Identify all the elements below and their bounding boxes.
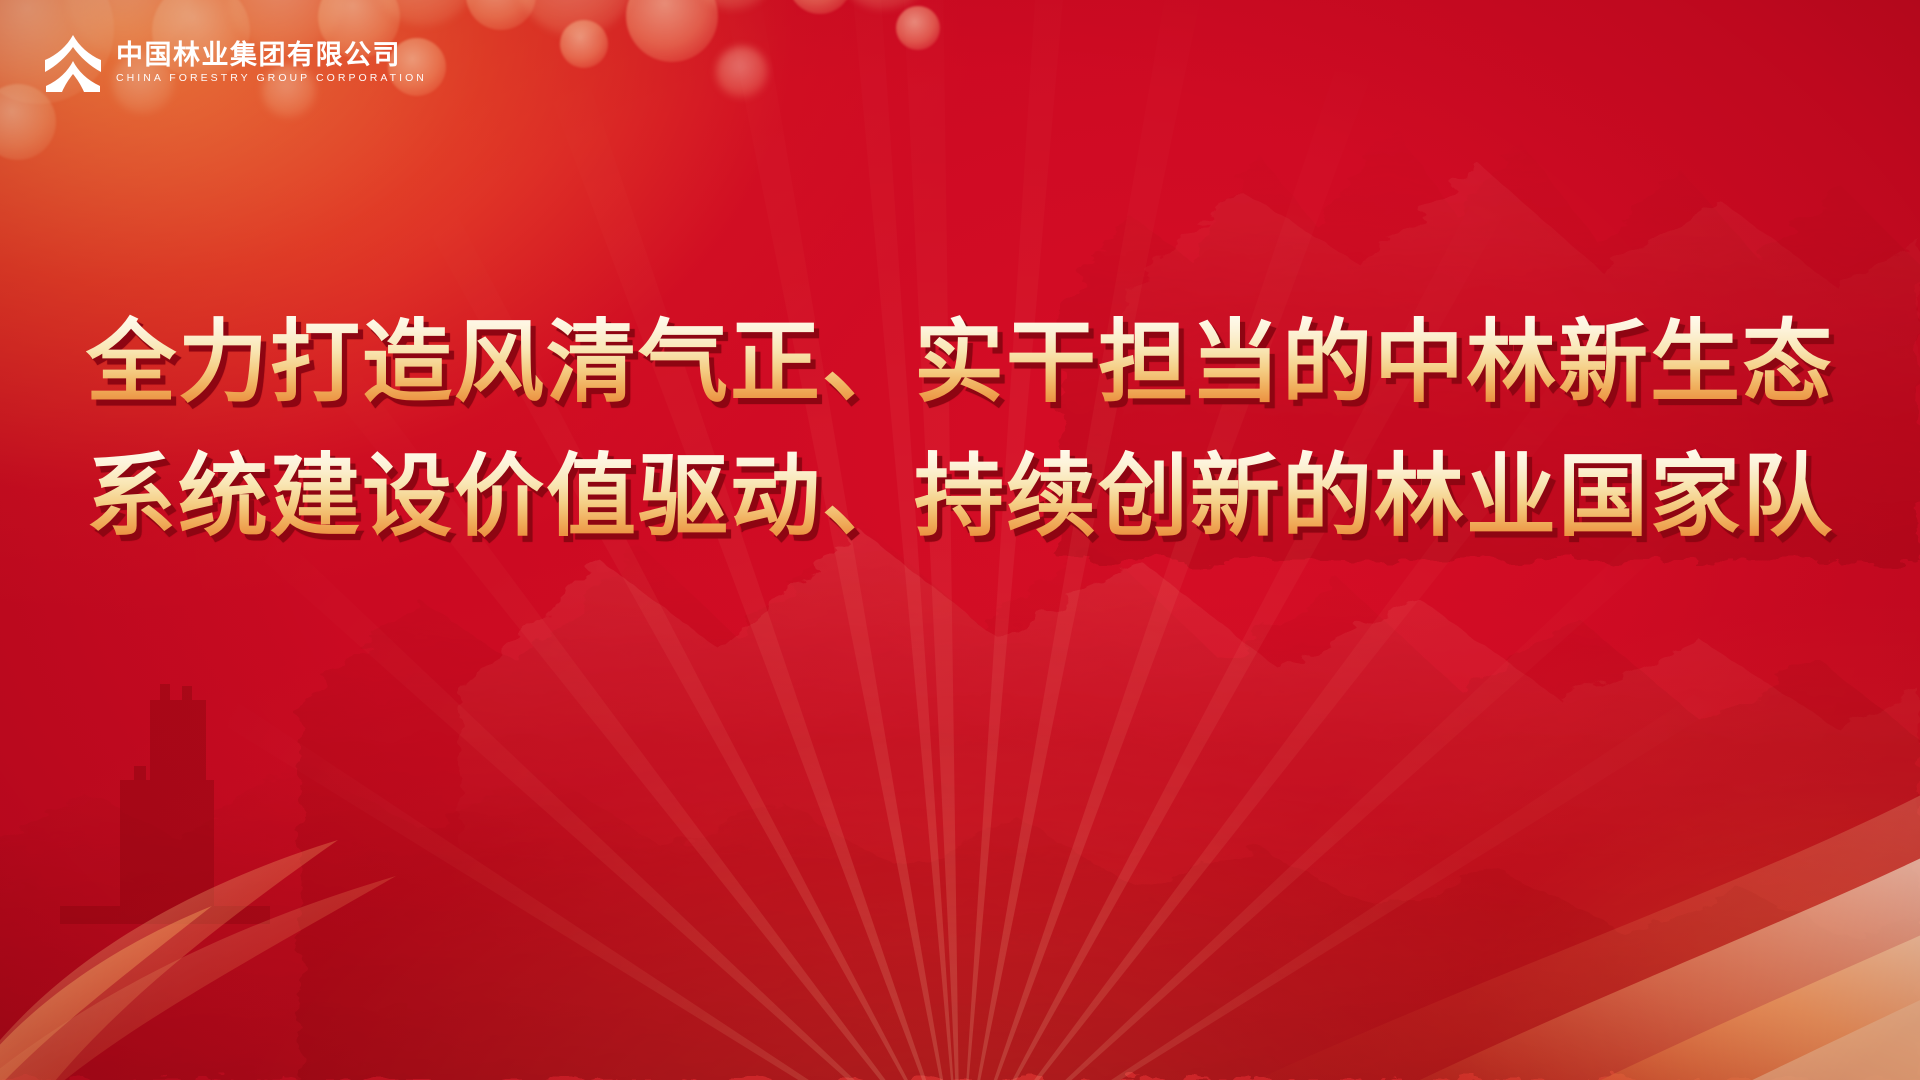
forestry-mountain-pagoda-mark-icon [44, 33, 102, 93]
ribbon-swoosh-right-icon [1050, 790, 1920, 1080]
poster-banner: 中国林业集团有限公司 CHINA FORESTRY GROUP CORPORAT… [0, 0, 1920, 1080]
headline-line-2: 系统建设价值驱动、持续创新的林业国家队 系统建设价值驱动、持续创新的林业国家队 [46, 430, 1874, 564]
brand-wordmark: 中国林业集团有限公司 CHINA FORESTRY GROUP CORPORAT… [116, 42, 427, 85]
brand-name-cn: 中国林业集团有限公司 [116, 42, 427, 70]
ribbon-swoosh-left-icon [0, 810, 720, 1080]
brand-name-en: CHINA FORESTRY GROUP CORPORATION [116, 73, 427, 85]
headline-line-1: 全力打造风清气正、实干担当的中林新生态 全力打造风清气正、实干担当的中林新生态 [46, 296, 1874, 430]
brand-logo[interactable]: 中国林业集团有限公司 CHINA FORESTRY GROUP CORPORAT… [44, 33, 427, 93]
headline-block: 全力打造风清气正、实干担当的中林新生态 全力打造风清气正、实干担当的中林新生态 … [0, 296, 1920, 564]
headline-line-1-text: 全力打造风清气正、实干担当的中林新生态 [86, 310, 1834, 415]
headline-line-2-text: 系统建设价值驱动、持续创新的林业国家队 [86, 444, 1834, 549]
